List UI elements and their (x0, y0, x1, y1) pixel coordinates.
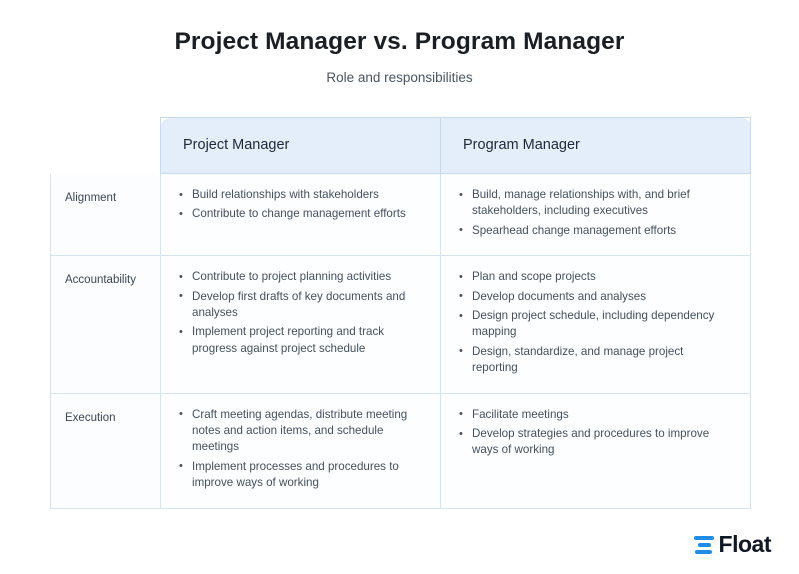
cell-accountability-program-manager: Plan and scope projects Develop document… (441, 256, 751, 393)
bullet-list: Plan and scope projects Develop document… (459, 269, 730, 376)
column-header-project-manager: Project Manager (161, 118, 441, 174)
row-label-alignment: Alignment (51, 174, 161, 256)
heading-block: Project Manager vs. Program Manager Role… (0, 0, 799, 86)
page-title: Project Manager vs. Program Manager (0, 27, 799, 58)
table-header: Project Manager Program Manager (51, 118, 751, 174)
list-item: Develop strategies and procedures to imp… (459, 426, 730, 459)
list-item: Implement project reporting and track pr… (179, 324, 420, 357)
page-subtitle: Role and responsibilities (0, 69, 799, 87)
bullet-list: Build relationships with stakeholders Co… (179, 187, 420, 223)
cell-alignment-project-manager: Build relationships with stakeholders Co… (161, 174, 441, 256)
bullet-list: Craft meeting agendas, distribute meetin… (179, 407, 420, 492)
list-item: Contribute to change management efforts (179, 206, 420, 222)
bullet-list: Build, manage relationships with, and br… (459, 187, 730, 239)
cell-execution-project-manager: Craft meeting agendas, distribute meetin… (161, 393, 441, 508)
float-logo-wordmark: Float (719, 533, 771, 556)
list-item: Develop first drafts of key documents an… (179, 289, 420, 322)
logo-bar-top (694, 536, 714, 541)
cell-accountability-project-manager: Contribute to project planning activitie… (161, 256, 441, 393)
cell-execution-program-manager: Facilitate meetings Develop strategies a… (441, 393, 751, 508)
table-header-label-spacer (51, 118, 161, 174)
list-item: Craft meeting agendas, distribute meetin… (179, 407, 420, 456)
float-logo: Float (693, 533, 771, 556)
list-item: Plan and scope projects (459, 269, 730, 285)
comparison-table: Project Manager Program Manager Alignmen… (50, 117, 751, 509)
infographic-page: Project Manager vs. Program Manager Role… (0, 0, 799, 574)
logo-bar-middle (698, 543, 711, 548)
comparison-table-container: Project Manager Program Manager Alignmen… (50, 117, 750, 509)
table-body: Alignment Build relationships with stake… (51, 174, 751, 509)
bullet-list: Facilitate meetings Develop strategies a… (459, 407, 730, 459)
row-label-accountability: Accountability (51, 256, 161, 393)
table-header-row: Project Manager Program Manager (51, 118, 751, 174)
list-item: Facilitate meetings (459, 407, 730, 423)
bullet-list: Contribute to project planning activitie… (179, 269, 420, 357)
table-row: Accountability Contribute to project pla… (51, 256, 751, 393)
table-row: Execution Craft meeting agendas, distrib… (51, 393, 751, 508)
float-logo-mark-icon (693, 535, 715, 555)
row-label-execution: Execution (51, 393, 161, 508)
list-item: Design project schedule, including depen… (459, 308, 730, 341)
list-item: Develop documents and analyses (459, 289, 730, 305)
list-item: Spearhead change management efforts (459, 223, 730, 239)
list-item: Contribute to project planning activitie… (179, 269, 420, 285)
cell-alignment-program-manager: Build, manage relationships with, and br… (441, 174, 751, 256)
column-header-program-manager: Program Manager (441, 118, 751, 174)
list-item: Design, standardize, and manage project … (459, 344, 730, 377)
list-item: Build, manage relationships with, and br… (459, 187, 730, 220)
table-row: Alignment Build relationships with stake… (51, 174, 751, 256)
list-item: Build relationships with stakeholders (179, 187, 420, 203)
list-item: Implement processes and procedures to im… (179, 459, 420, 492)
logo-bar-bottom (695, 550, 712, 555)
